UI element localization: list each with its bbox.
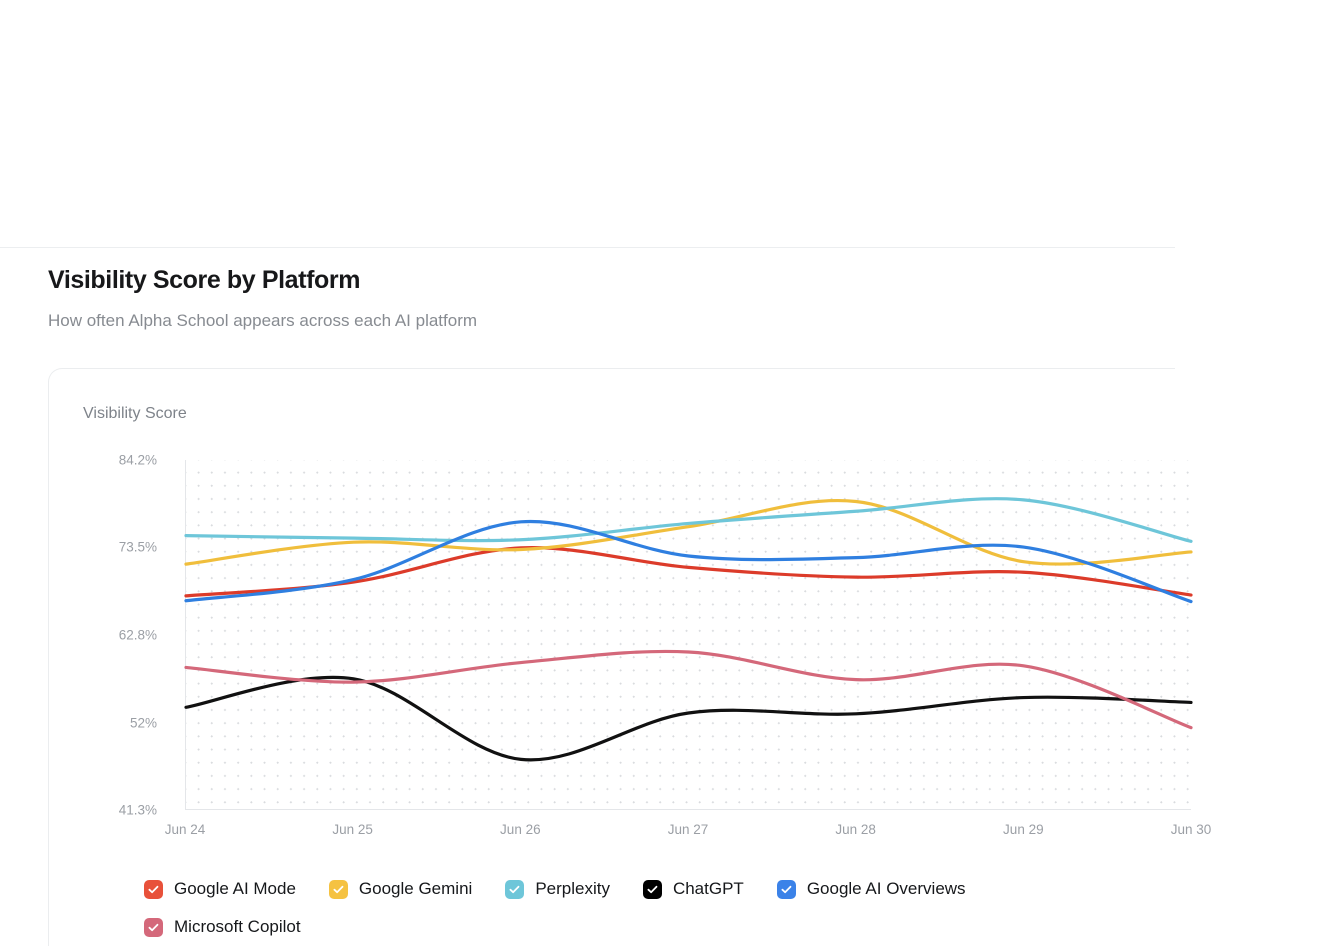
- legend-checkbox[interactable]: [144, 918, 163, 937]
- chart-legend: Google AI ModeGoogle GeminiPerplexityCha…: [144, 870, 1144, 946]
- line-series: [186, 521, 1191, 601]
- check-icon: [508, 883, 521, 896]
- x-axis-tick-label: Jun 28: [835, 822, 876, 837]
- legend-item-perplexity[interactable]: Perplexity: [505, 870, 610, 908]
- chart-card-label: Visibility Score: [83, 403, 187, 425]
- x-axis-tick-label: Jun 29: [1003, 822, 1044, 837]
- x-axis-tick-label: Jun 26: [500, 822, 541, 837]
- legend-checkbox[interactable]: [329, 880, 348, 899]
- check-icon: [780, 883, 793, 896]
- y-axis: 84.2%73.5%62.8%52%41.3%: [83, 460, 171, 810]
- section-header: Visibility Score by Platform How often A…: [48, 263, 1148, 333]
- legend-checkbox[interactable]: [643, 880, 662, 899]
- legend-item-label: Google Gemini: [359, 879, 472, 899]
- plot-area[interactable]: [185, 460, 1191, 810]
- y-axis-tick-label: 84.2%: [119, 453, 157, 468]
- legend-item-google-ai-overviews[interactable]: Google AI Overviews: [777, 870, 966, 908]
- check-icon: [147, 921, 160, 934]
- legend-item-label: Google AI Mode: [174, 879, 296, 899]
- legend-item-label: Perplexity: [535, 879, 610, 899]
- chart-card: Visibility Score 84.2%73.5%62.8%52%41.3%…: [48, 368, 1175, 946]
- legend-item-chatgpt[interactable]: ChatGPT: [643, 870, 744, 908]
- screenshot-root: Visibility Score by Platform How often A…: [0, 0, 1332, 946]
- x-axis-tick-label: Jun 27: [668, 822, 709, 837]
- x-axis: Jun 24Jun 25Jun 26Jun 27Jun 28Jun 29Jun …: [185, 812, 1191, 842]
- x-axis-tick-label: Jun 30: [1171, 822, 1212, 837]
- page-title: Visibility Score by Platform: [48, 263, 1148, 297]
- legend-item-label: ChatGPT: [673, 879, 744, 899]
- line-series-group: [186, 460, 1191, 809]
- legend-item-google-ai-mode[interactable]: Google AI Mode: [144, 870, 296, 908]
- section-divider: [0, 247, 1175, 248]
- chart-plot-wrapper: 84.2%73.5%62.8%52%41.3% Jun 24Jun 25Jun …: [83, 460, 1176, 860]
- legend-item-label: Google AI Overviews: [807, 879, 966, 899]
- y-axis-tick-label: 73.5%: [119, 540, 157, 555]
- x-axis-tick-label: Jun 24: [165, 822, 206, 837]
- page-subtitle: How often Alpha School appears across ea…: [48, 297, 1148, 333]
- legend-item-microsoft-copilot[interactable]: Microsoft Copilot: [144, 908, 301, 946]
- line-series: [186, 499, 1191, 542]
- y-axis-tick-label: 62.8%: [119, 627, 157, 642]
- line-series: [186, 651, 1191, 727]
- legend-checkbox[interactable]: [505, 880, 524, 899]
- x-axis-tick-label: Jun 25: [332, 822, 373, 837]
- line-series: [186, 677, 1191, 760]
- y-axis-tick-label: 41.3%: [119, 803, 157, 818]
- check-icon: [332, 883, 345, 896]
- legend-checkbox[interactable]: [144, 880, 163, 899]
- y-axis-tick-label: 52%: [130, 715, 157, 730]
- check-icon: [147, 883, 160, 896]
- check-icon: [646, 883, 659, 896]
- legend-item-google-gemini[interactable]: Google Gemini: [329, 870, 472, 908]
- legend-item-label: Microsoft Copilot: [174, 917, 301, 937]
- legend-checkbox[interactable]: [777, 880, 796, 899]
